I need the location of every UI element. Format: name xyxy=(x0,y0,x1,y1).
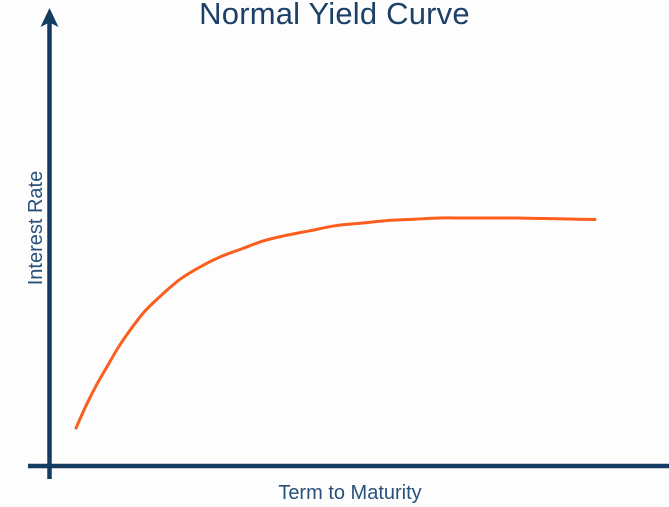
y-axis-label: Interest Rate xyxy=(25,138,47,318)
x-axis-label: Term to Maturity xyxy=(0,481,669,505)
yield-curve-line xyxy=(76,218,595,428)
yield-curve-chart: Normal Yield Curve Interest Rate Term to… xyxy=(0,0,669,507)
chart-title: Normal Yield Curve xyxy=(0,0,669,32)
chart-canvas xyxy=(0,0,669,507)
